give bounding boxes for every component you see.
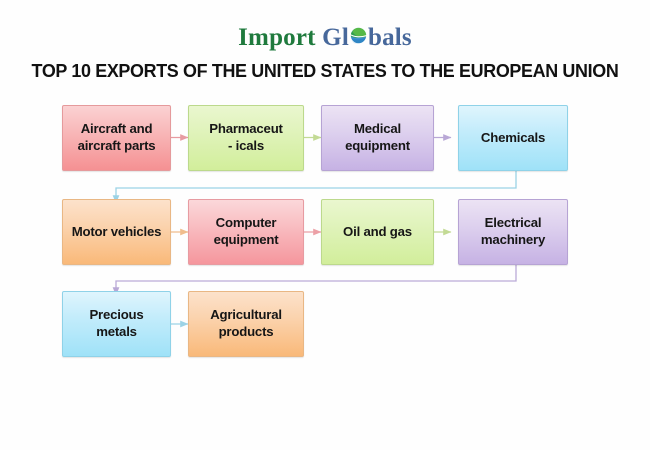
node-label: Oil and gas [327,224,428,241]
connector-chemicals-to-motor-vehicles [116,171,516,203]
node-motor-vehicles[interactable]: Motor vehicles [62,199,171,265]
node-chemicals[interactable]: Chemicals [458,105,568,171]
node-pharmaceuticals[interactable]: Pharmaceut- icals [188,105,304,171]
node-electrical-machinery[interactable]: Electrical machinery [458,199,568,265]
node-label: Precious metals [68,307,165,341]
node-label: Agricultural products [194,307,298,341]
node-label: Motor vehicles [68,224,165,241]
node-label: Chemicals [464,130,562,147]
node-label-line1: Pharmaceut [209,121,283,136]
node-label-line2: - icals [228,138,264,153]
node-label: Electrical machinery [464,215,562,249]
node-label: Aircraft and aircraft parts [68,121,165,155]
exports-flowchart: Aircraft and aircraft parts Pharmaceut- … [0,0,650,450]
node-medical-equipment[interactable]: Medical equipment [321,105,434,171]
node-precious-metals[interactable]: Precious metals [62,291,171,357]
connector-electrical-to-precious-metals [116,265,516,295]
node-label: Computer equipment [194,215,298,249]
node-agricultural-products[interactable]: Agricultural products [188,291,304,357]
node-aircraft-and-aircraft-parts[interactable]: Aircraft and aircraft parts [62,105,171,171]
node-label: Medical equipment [327,121,428,155]
node-label: Pharmaceut- icals [194,121,298,155]
node-oil-and-gas[interactable]: Oil and gas [321,199,434,265]
node-computer-equipment[interactable]: Computer equipment [188,199,304,265]
